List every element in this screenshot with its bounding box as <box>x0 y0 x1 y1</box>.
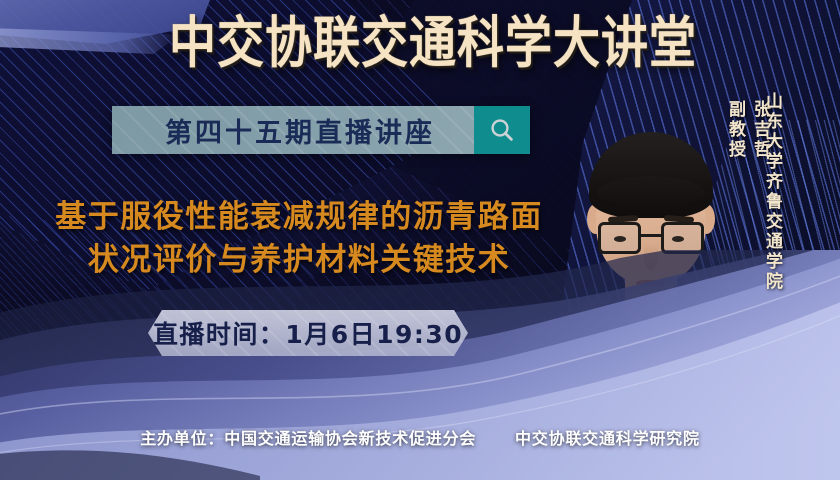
speaker-rank: 副教授 <box>725 100 745 160</box>
portrait-glasses-bridge <box>641 234 661 237</box>
search-icon <box>488 116 516 144</box>
live-lecture-poster: 中交协联交通科学大讲堂 第四十五期直播讲座 基于服役性能衰减规律的沥青路面 状况… <box>0 0 840 480</box>
portrait-hair <box>589 132 713 218</box>
lecture-title-line-2: 状况评价与养护材料关键技术 <box>18 239 580 282</box>
organizer-footer: 主办单位：中国交通运输协会新技术促进分会 中交协联交通科学研究院 <box>0 425 840 449</box>
organizer-secondary: 中交协联交通科学研究院 <box>515 429 700 448</box>
organizer-primary: 主办单位：中国交通运输协会新技术促进分会 <box>140 429 476 448</box>
portrait-eye-left <box>614 236 626 242</box>
page-title: 中交协联交通科学大讲堂 <box>0 16 840 71</box>
broadcast-time-label: 直播时间：1月6日19:30 <box>153 315 463 351</box>
portrait-eye-right <box>672 236 684 242</box>
series-bar: 第四十五期直播讲座 <box>112 106 530 154</box>
lecture-title-line-1: 基于服役性能衰减规律的沥青路面 <box>18 196 580 239</box>
search-button[interactable] <box>474 106 530 154</box>
broadcast-time-badge: 直播时间：1月6日19:30 <box>148 310 468 356</box>
series-bar-label: 第四十五期直播讲座 <box>112 106 474 154</box>
speaker-affiliation: 山东大学齐鲁交通学院 <box>760 92 785 292</box>
lecture-title: 基于服役性能衰减规律的沥青路面 状况评价与养护材料关键技术 <box>18 196 580 283</box>
